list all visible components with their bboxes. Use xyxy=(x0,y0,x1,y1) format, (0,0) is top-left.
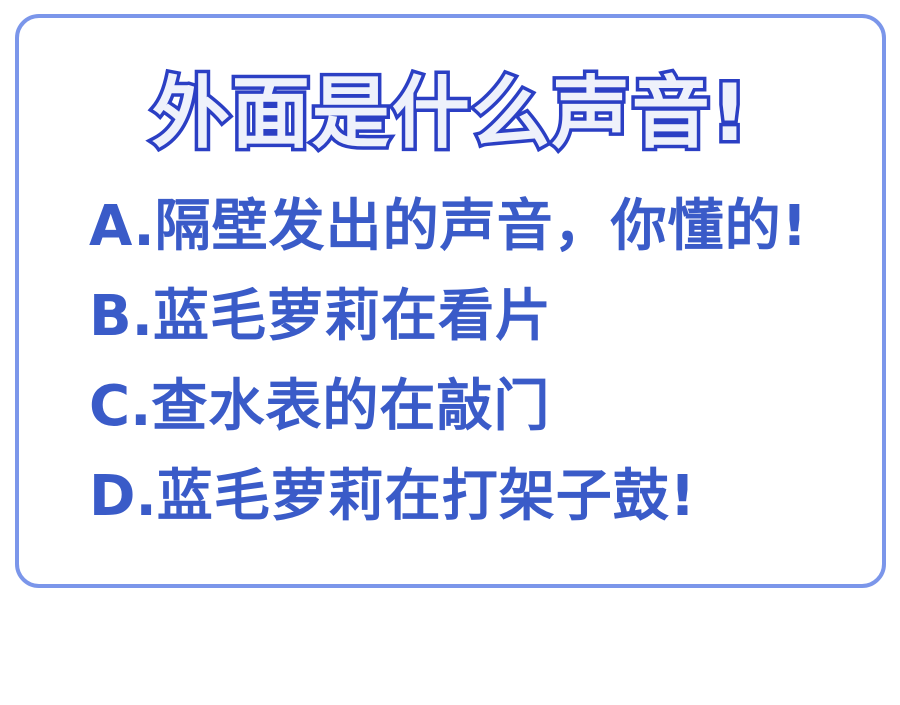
quiz-option-c[interactable]: C. 查水表的在敲门 xyxy=(89,376,842,466)
quiz-option-d-label: 蓝毛萝莉在打架子鼓! xyxy=(157,466,697,528)
quiz-option-b-letter: B. xyxy=(89,286,153,348)
quiz-option-b[interactable]: B. 蓝毛萝莉在看片 xyxy=(89,286,842,376)
quiz-option-c-letter: C. xyxy=(89,376,151,438)
quiz-option-b-label: 蓝毛萝莉在看片 xyxy=(153,286,552,348)
quiz-option-d[interactable]: D. 蓝毛萝莉在打架子鼓! xyxy=(89,466,842,556)
quiz-canvas: 外面是什么声音! A. 隔壁发出的声音，你懂的! B. 蓝毛萝莉在看片 C. 查… xyxy=(0,0,900,705)
quiz-option-a[interactable]: A. 隔壁发出的声音，你懂的! xyxy=(89,196,842,286)
quiz-question-title: 外面是什么声音! xyxy=(19,66,882,162)
quiz-options-list: A. 隔壁发出的声音，你懂的! B. 蓝毛萝莉在看片 C. 查水表的在敲门 D.… xyxy=(89,196,842,556)
quiz-option-c-label: 查水表的在敲门 xyxy=(151,376,550,438)
quiz-option-d-letter: D. xyxy=(89,466,157,528)
quiz-card-frame: 外面是什么声音! A. 隔壁发出的声音，你懂的! B. 蓝毛萝莉在看片 C. 查… xyxy=(15,14,886,588)
quiz-option-a-label: 隔壁发出的声音，你懂的! xyxy=(155,196,809,258)
quiz-option-a-letter: A. xyxy=(89,196,155,258)
